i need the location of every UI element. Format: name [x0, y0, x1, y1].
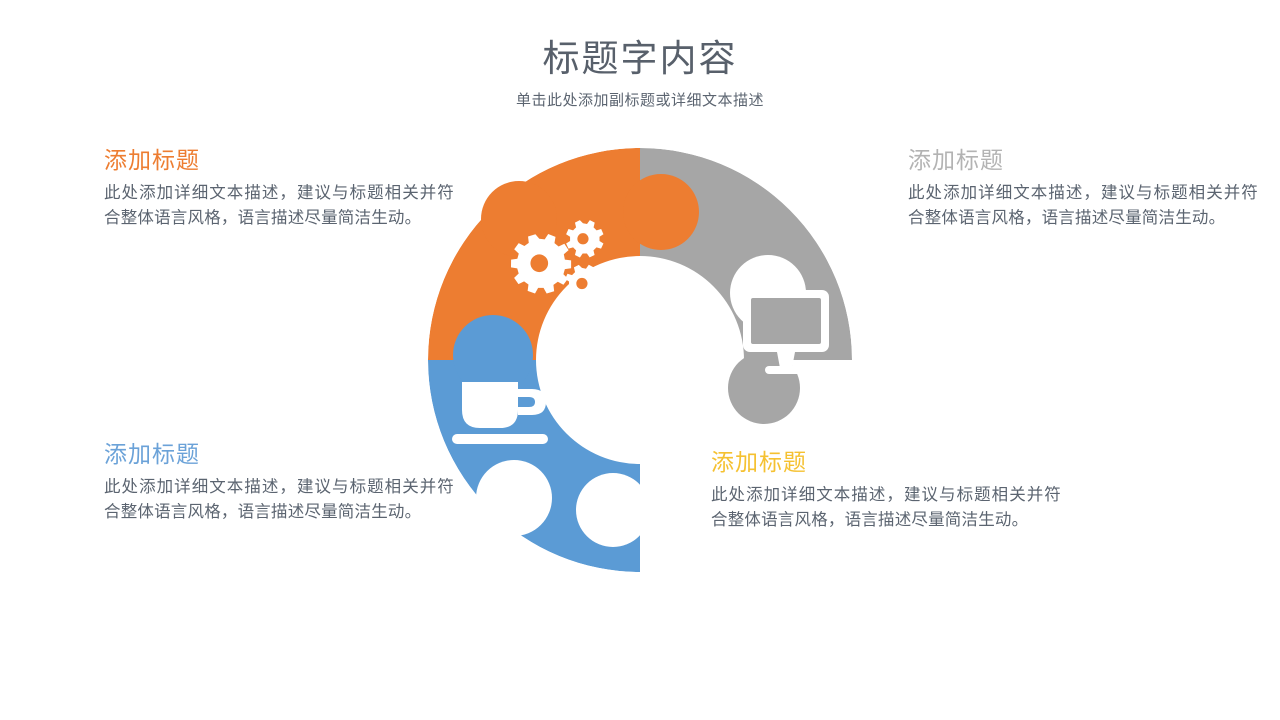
- puzzle-notch-blue-left: [476, 460, 552, 536]
- text-block-bottom-left[interactable]: 添加标题 此处添加详细文本描述，建议与标题相关并符合整体语言风格，语言描述尽量简…: [104, 440, 454, 524]
- slide: 标题字内容 单击此处添加副标题或详细文本描述 添加标题 此处添加详细文本描述，建…: [0, 0, 1280, 720]
- slide-header: 标题字内容 单击此处添加副标题或详细文本描述: [0, 36, 1280, 112]
- block-title-top-left: 添加标题: [104, 146, 454, 176]
- block-title-top-right: 添加标题: [908, 146, 1258, 176]
- block-title-bottom-left: 添加标题: [104, 440, 454, 470]
- block-body-top-left: 此处添加详细文本描述，建议与标题相关并符合整体语言风格，语言描述尽量简洁生动。: [104, 180, 454, 230]
- page-title: 标题字内容: [0, 36, 1280, 82]
- block-body-top-right: 此处添加详细文本描述，建议与标题相关并符合整体语言风格，语言描述尽量简洁生动。: [908, 180, 1258, 230]
- puzzle-ring-diagram: [420, 140, 860, 580]
- puzzle-notch-blue-right: [576, 473, 650, 547]
- text-block-top-left[interactable]: 添加标题 此处添加详细文本描述，建议与标题相关并符合整体语言风格，语言描述尽量简…: [104, 146, 454, 230]
- coffee-cup-icon: [452, 382, 548, 444]
- puzzle-tab-orange-into-gray: [623, 174, 699, 250]
- block-body-bottom-left: 此处添加详细文本描述，建议与标题相关并符合整体语言风格，语言描述尽量简洁生动。: [104, 474, 454, 524]
- page-subtitle: 单击此处添加副标题或详细文本描述: [0, 90, 1280, 112]
- text-block-top-right[interactable]: 添加标题 此处添加详细文本描述，建议与标题相关并符合整体语言风格，语言描述尽量简…: [908, 146, 1258, 230]
